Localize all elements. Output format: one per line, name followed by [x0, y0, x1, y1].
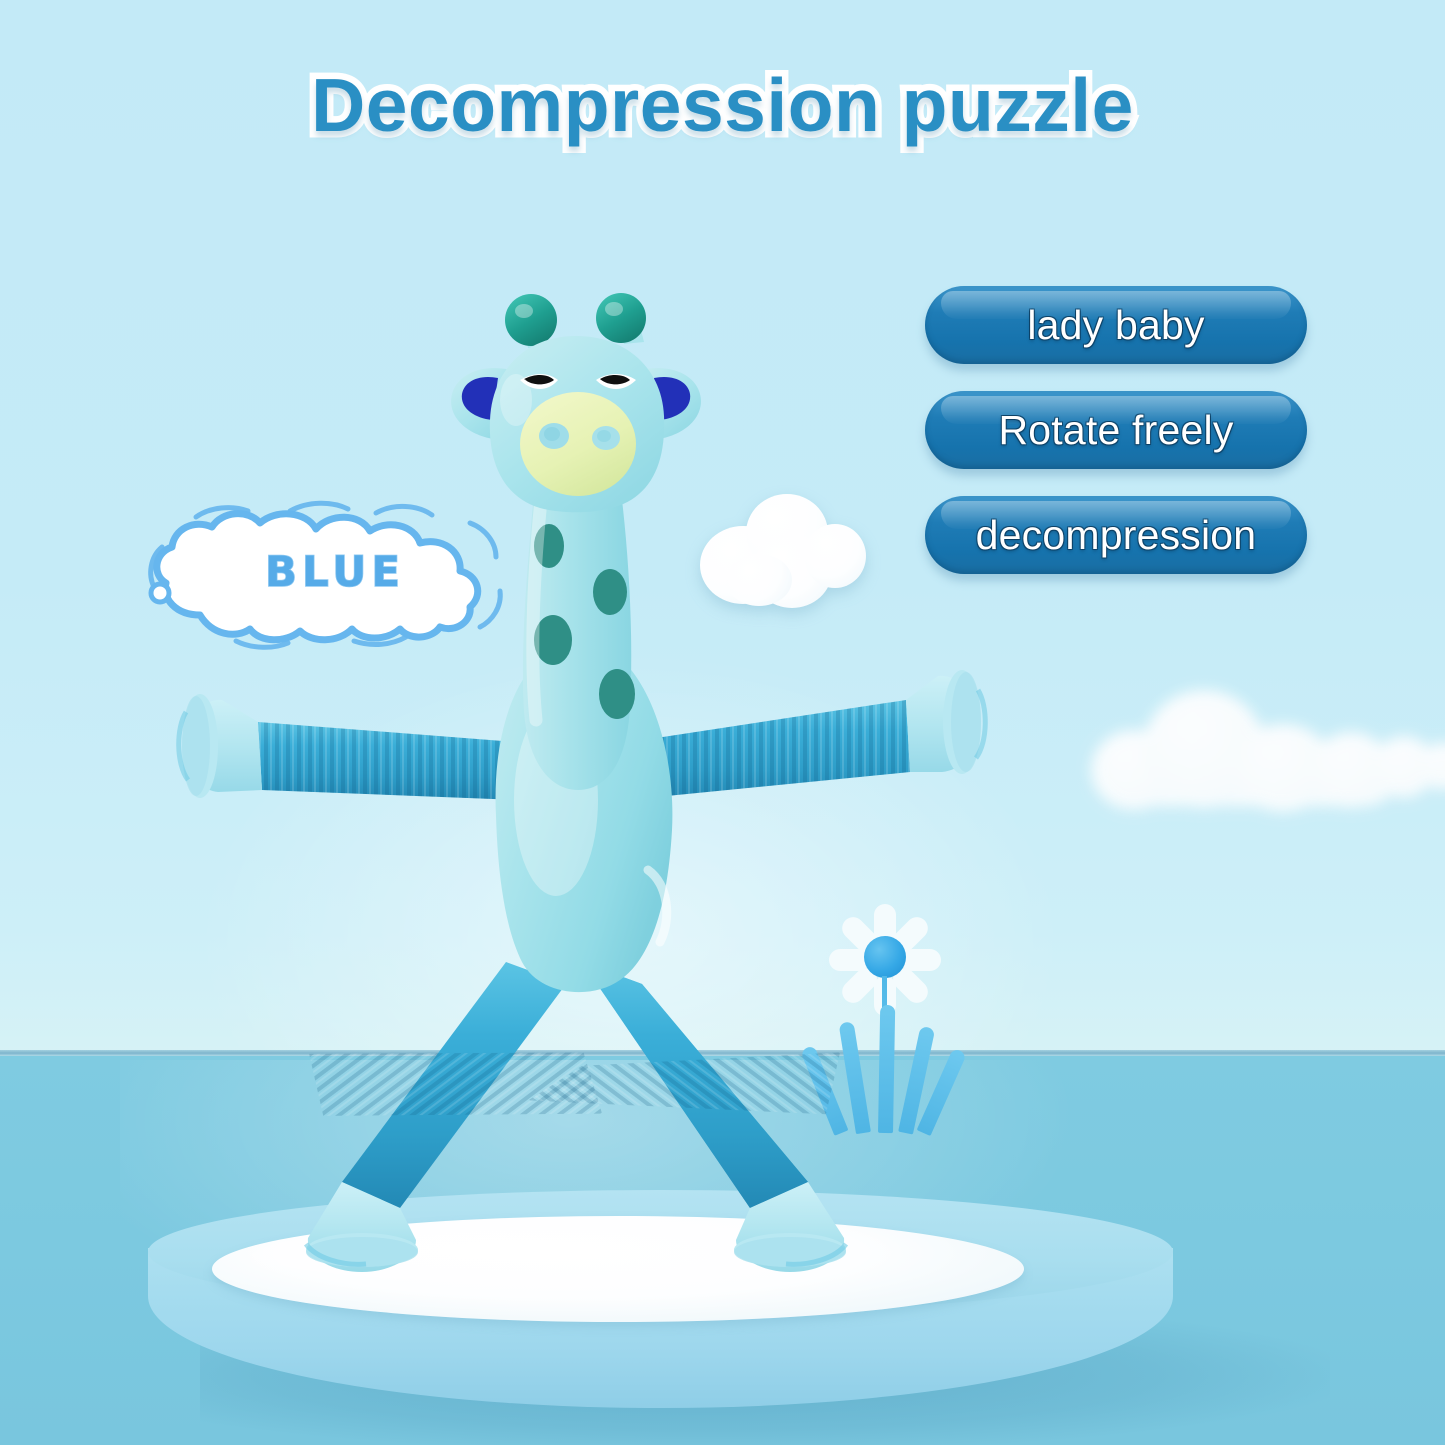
giraffe-spot	[593, 569, 627, 615]
giraffe-head	[490, 336, 664, 512]
horn-right	[596, 293, 646, 343]
giraffe-pop-tube-toy	[0, 0, 1445, 1445]
giraffe-spot	[534, 615, 572, 665]
product-image: Decompression puzzle	[0, 0, 1445, 1445]
giraffe-muzzle	[520, 392, 636, 496]
right-arm	[626, 670, 985, 800]
giraffe-neck	[523, 468, 635, 790]
giraffe-spot	[599, 669, 635, 719]
horn-left	[505, 294, 557, 346]
left-arm	[179, 694, 520, 800]
